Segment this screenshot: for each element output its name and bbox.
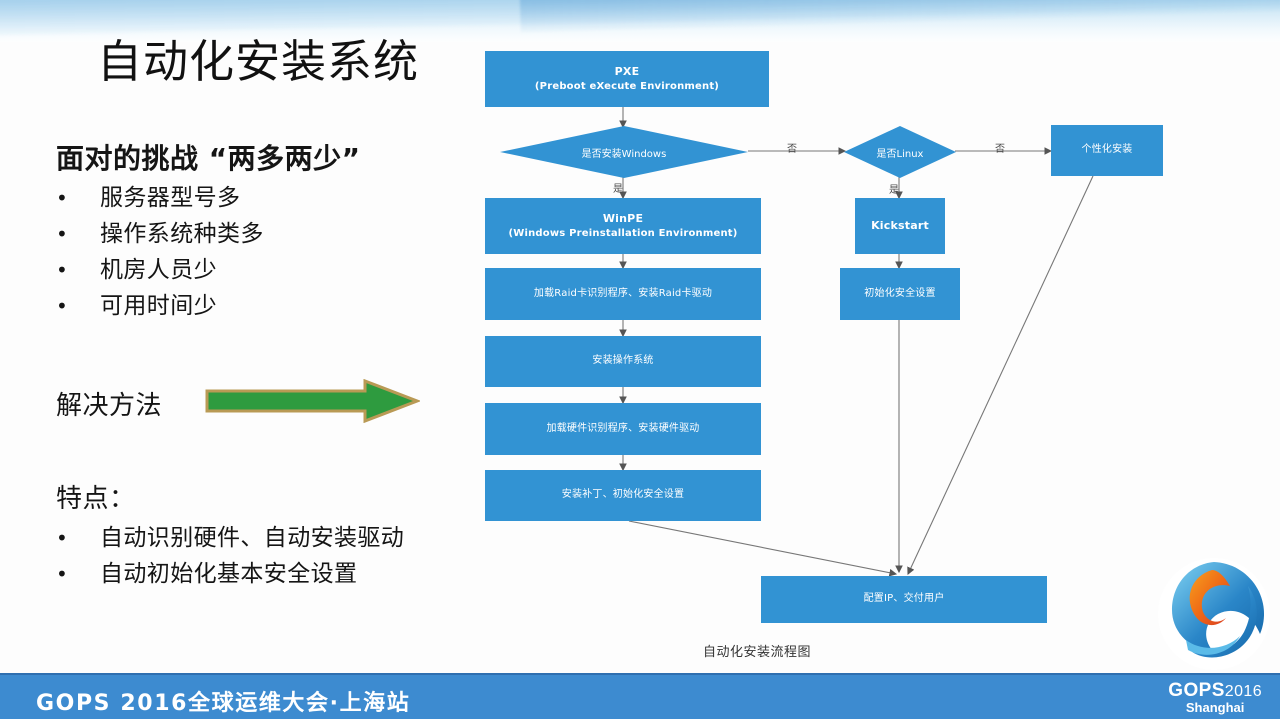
edge-label-windows-no: 否 [787,140,797,155]
edge-label-linux-no: 否 [995,140,1005,155]
flow-node-patch-security-label: 安装补丁、初始化安全设置 [562,488,684,503]
edge-label-windows-yes: 是 [613,180,623,195]
footer-logo-year: 2016 [1225,683,1262,700]
flow-decision-install-windows-label: 是否安装Windows [582,145,667,160]
flow-node-init-security[interactable]: 初始化安全设置 [840,268,960,320]
footer-bar: GOPS 2016全球运维大会·上海站 GOPS2016 Shanghai [0,673,1280,719]
flow-node-custom-install[interactable]: 个性化安装 [1051,125,1163,176]
flow-node-pxe-title: PXE [615,64,640,80]
footer-logo-gops: GOPS [1168,680,1225,701]
flow-node-install-os-label: 安装操作系统 [592,354,653,369]
flow-node-kickstart-label: Kickstart [871,218,929,234]
gops-logo-icon [1156,556,1272,672]
flowchart-caption: 自动化安装流程图 [703,641,811,660]
footer-logo: GOPS2016 Shanghai [1168,681,1262,715]
flow-node-init-security-label: 初始化安全设置 [864,287,935,302]
flow-node-patch-security[interactable]: 安装补丁、初始化安全设置 [485,470,761,521]
flow-node-winpe[interactable]: WinPE (Windows Preinstallation Environme… [485,198,761,254]
flow-node-raid-driver[interactable]: 加载Raid卡识别程序、安装Raid卡驱动 [485,268,761,320]
footer-logo-city: Shanghai [1168,701,1262,715]
flow-node-custom-install-label: 个性化安装 [1082,143,1133,158]
flow-node-install-os[interactable]: 安装操作系统 [485,336,761,387]
flow-node-hardware-driver-label: 加载硬件识别程序、安装硬件驱动 [547,422,700,437]
flow-node-pxe[interactable]: PXE (Preboot eXecute Environment) [485,51,769,107]
flow-node-winpe-subtitle: (Windows Preinstallation Environment) [508,227,737,242]
slide-canvas: 自动化安装系统 面对的挑战 “两多两少” • 服务器型号多 • 操作系统种类多 … [0,0,1280,719]
flow-node-pxe-subtitle: (Preboot eXecute Environment) [535,80,719,95]
flow-node-deliver[interactable]: 配置IP、交付用户 [761,576,1047,623]
flow-decision-install-windows[interactable]: 是否安装Windows [500,126,748,178]
flow-node-winpe-title: WinPE [603,211,643,227]
footer-logo-line1: GOPS2016 [1168,681,1262,701]
flow-node-hardware-driver[interactable]: 加载硬件识别程序、安装硬件驱动 [485,403,761,455]
flow-decision-is-linux[interactable]: 是否Linux [844,126,956,178]
flow-node-raid-driver-label: 加载Raid卡识别程序、安装Raid卡驱动 [534,287,712,302]
flow-node-kickstart[interactable]: Kickstart [855,198,945,254]
footer-title: GOPS 2016全球运维大会·上海站 [36,685,410,717]
flow-node-deliver-label: 配置IP、交付用户 [864,592,945,607]
flow-decision-is-linux-label: 是否Linux [877,145,924,160]
edge-label-linux-yes: 是 [889,181,899,196]
